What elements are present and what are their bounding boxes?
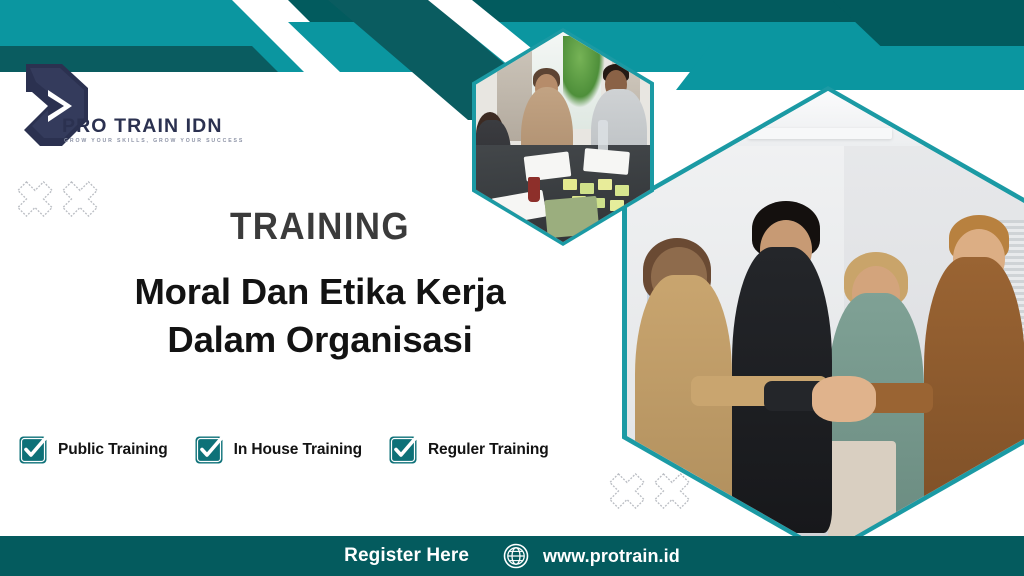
checkbox-checked-icon[interactable] xyxy=(388,434,419,465)
training-option-label: Public Training xyxy=(58,441,168,459)
x-cross-outline-icon xyxy=(653,472,691,510)
register-here-label[interactable]: Register Here xyxy=(344,545,469,567)
brand-logo: PRO TRAIN IDN GROW YOUR SKILLS, GROW YOU… xyxy=(16,62,226,162)
training-options-row: Public Training In House Training Re xyxy=(18,434,549,465)
checkbox-checked-icon[interactable] xyxy=(194,434,225,465)
brand-name: PRO TRAIN IDN xyxy=(62,115,223,138)
hero-title-line-1: Moral Dan Etika Kerja xyxy=(0,268,640,316)
footer-bar: Register Here www.protrain.id xyxy=(0,536,1024,576)
training-option-label: In House Training xyxy=(234,441,362,459)
training-option-reguler[interactable]: Reguler Training xyxy=(388,434,549,465)
training-promo-banner: PRO TRAIN IDN GROW YOUR SKILLS, GROW YOU… xyxy=(0,0,1024,576)
x-cross-outline-icon xyxy=(608,472,646,510)
website-group[interactable]: www.protrain.id xyxy=(503,543,680,569)
hero-title-line-2: Dalam Organisasi xyxy=(0,316,640,364)
checkbox-checked-icon[interactable] xyxy=(18,434,49,465)
decor-x-cluster-bottom xyxy=(608,472,691,510)
training-option-in-house[interactable]: In House Training xyxy=(194,434,362,465)
globe-icon xyxy=(503,543,529,569)
website-url[interactable]: www.protrain.id xyxy=(543,546,680,567)
training-option-label: Reguler Training xyxy=(428,441,549,459)
brand-tagline: GROW YOUR SKILLS, GROW YOUR SUCCESS xyxy=(64,138,244,144)
hero-title: Moral Dan Etika Kerja Dalam Organisasi xyxy=(0,268,640,364)
training-option-public[interactable]: Public Training xyxy=(18,434,168,465)
